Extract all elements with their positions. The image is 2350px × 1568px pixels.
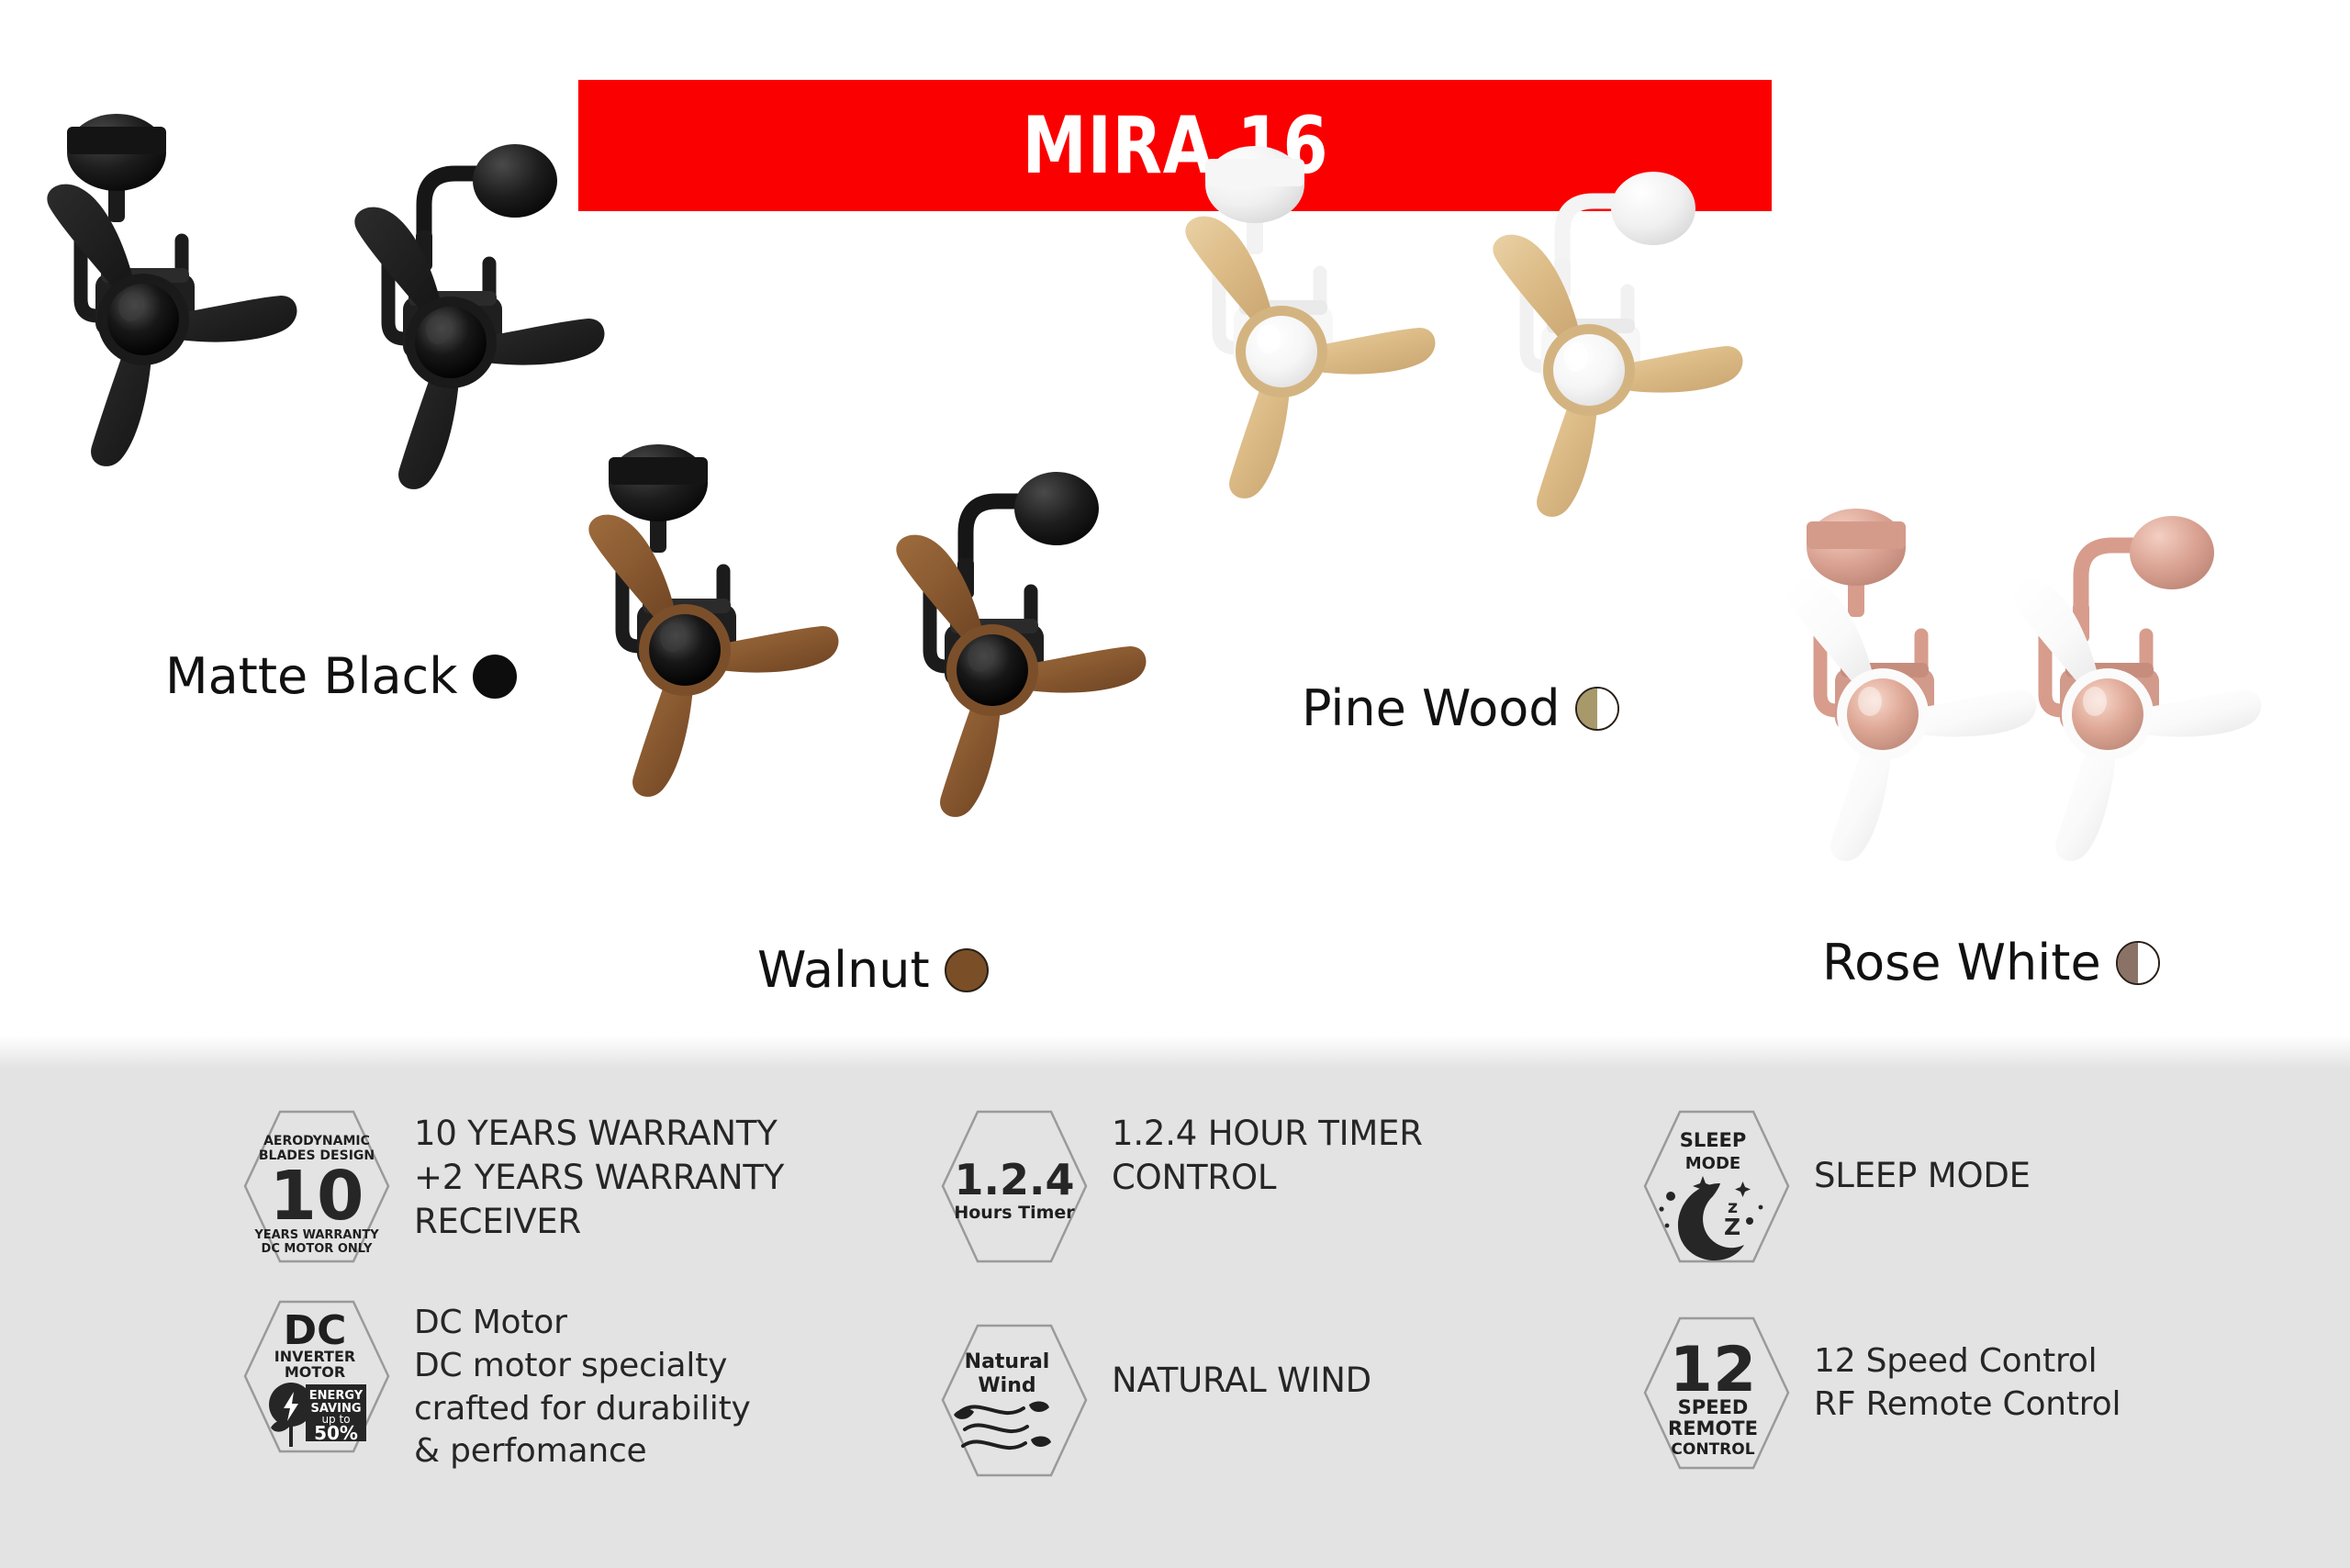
color-label-pine-wood: Pine Wood xyxy=(1302,684,1619,734)
feature-item-warranty: AERODYNAMIC BLADES DESIGN 10 YEARS WARRA… xyxy=(243,1106,784,1267)
color-name-walnut: Walnut xyxy=(757,946,930,995)
fan-wall-mount-pine-wood[interactable] xyxy=(1473,170,1896,555)
color-label-walnut: Walnut xyxy=(757,946,989,995)
color-swatch-walnut xyxy=(945,948,989,992)
timer-badge-icon: 1.2.4 Hours Timer xyxy=(941,1106,1088,1267)
color-name-matte-black: Matte Black xyxy=(165,652,458,701)
svg-text:Z: Z xyxy=(1724,1214,1740,1240)
feature-column-2: 1.2.4 Hours Timer 1.2.4 HOUR TIMERCONTRO… xyxy=(941,1106,1423,1481)
feature-description-speed-control: 12 Speed ControlRF Remote Control xyxy=(1814,1313,2121,1427)
svg-text:DC MOTOR ONLY: DC MOTOR ONLY xyxy=(262,1242,373,1256)
svg-text:SPEED: SPEED xyxy=(1678,1396,1749,1418)
svg-text:CONTROL: CONTROL xyxy=(1671,1440,1754,1459)
feature-item-sleep-mode: SLEEP MODE z Z SLEEP MODE xyxy=(1643,1106,2121,1267)
svg-text:AERODYNAMIC: AERODYNAMIC xyxy=(263,1134,370,1148)
svg-text:Hours Timer: Hours Timer xyxy=(954,1203,1075,1223)
feature-column-1: AERODYNAMIC BLADES DESIGN 10 YEARS WARRA… xyxy=(243,1106,784,1473)
feature-description-natural-wind: NATURAL WIND xyxy=(1112,1320,1371,1403)
product-gallery: Matte Black xyxy=(0,0,2350,1074)
svg-text:YEARS WARRANTY: YEARS WARRANTY xyxy=(253,1228,379,1242)
feature-description-timer: 1.2.4 HOUR TIMERCONTROL xyxy=(1112,1106,1423,1200)
feature-item-dc-motor: DC INVERTER MOTOR ENERGY SAVING up to 50… xyxy=(243,1296,784,1473)
color-swatch-pine-wood xyxy=(1575,687,1619,731)
dc-motor-badge-icon: DC INVERTER MOTOR ENERGY SAVING up to 50… xyxy=(243,1296,390,1457)
svg-text:Natural: Natural xyxy=(965,1350,1050,1373)
feature-description-warranty: 10 YEARS WARRANTY+2 YEARS WARRANTYRECEIV… xyxy=(414,1106,784,1244)
color-name-pine-wood: Pine Wood xyxy=(1302,684,1561,734)
warranty-10-badge-icon: AERODYNAMIC BLADES DESIGN 10 YEARS WARRA… xyxy=(243,1106,390,1267)
advertisement-stage: MIRA 16 xyxy=(0,0,2350,1568)
svg-text:REMOTE: REMOTE xyxy=(1668,1417,1758,1439)
feature-item-speed-control: 12 SPEED REMOTE CONTROL 12 Speed Control… xyxy=(1643,1313,2121,1473)
feature-description-sleep-mode: SLEEP MODE xyxy=(1814,1106,2031,1198)
fan-illustration-rose-white-wall xyxy=(1992,514,2350,900)
feature-item-natural-wind: Natural Wind NATURAL WIND xyxy=(941,1320,1423,1481)
svg-text:1.2.4: 1.2.4 xyxy=(955,1155,1075,1204)
svg-text:Wind: Wind xyxy=(978,1374,1035,1397)
feature-item-timer: 1.2.4 Hours Timer 1.2.4 HOUR TIMERCONTRO… xyxy=(941,1106,1423,1267)
sleep-mode-badge-icon: SLEEP MODE z Z xyxy=(1643,1106,1790,1267)
svg-text:MOTOR: MOTOR xyxy=(285,1363,345,1381)
fan-wall-mount-rose-white[interactable] xyxy=(1992,514,2350,900)
color-name-rose-white: Rose White xyxy=(1822,938,2101,988)
svg-text:50%: 50% xyxy=(314,1422,358,1444)
panel-fade-divider xyxy=(0,1036,2350,1069)
color-label-rose-white: Rose White xyxy=(1822,938,2160,988)
svg-text:SLEEP: SLEEP xyxy=(1680,1129,1747,1151)
feature-column-3: SLEEP MODE z Z SLEEP MODE xyxy=(1643,1106,2121,1473)
color-label-matte-black: Matte Black xyxy=(165,652,517,701)
color-swatch-matte-black xyxy=(473,655,517,699)
svg-text:10: 10 xyxy=(270,1157,364,1236)
feature-panel: AERODYNAMIC BLADES DESIGN 10 YEARS WARRA… xyxy=(0,1068,2350,1568)
fan-illustration-pine-wood-wall xyxy=(1473,170,1896,555)
svg-text:MODE: MODE xyxy=(1685,1154,1740,1173)
color-swatch-rose-white xyxy=(2116,941,2160,985)
feature-description-dc-motor: DC MotorDC motor specialtycrafted for du… xyxy=(414,1296,751,1473)
svg-text:ENERGY: ENERGY xyxy=(309,1389,364,1403)
natural-wind-badge-icon: Natural Wind xyxy=(941,1320,1088,1481)
speed-12-badge-icon: 12 SPEED REMOTE CONTROL xyxy=(1643,1313,1790,1473)
